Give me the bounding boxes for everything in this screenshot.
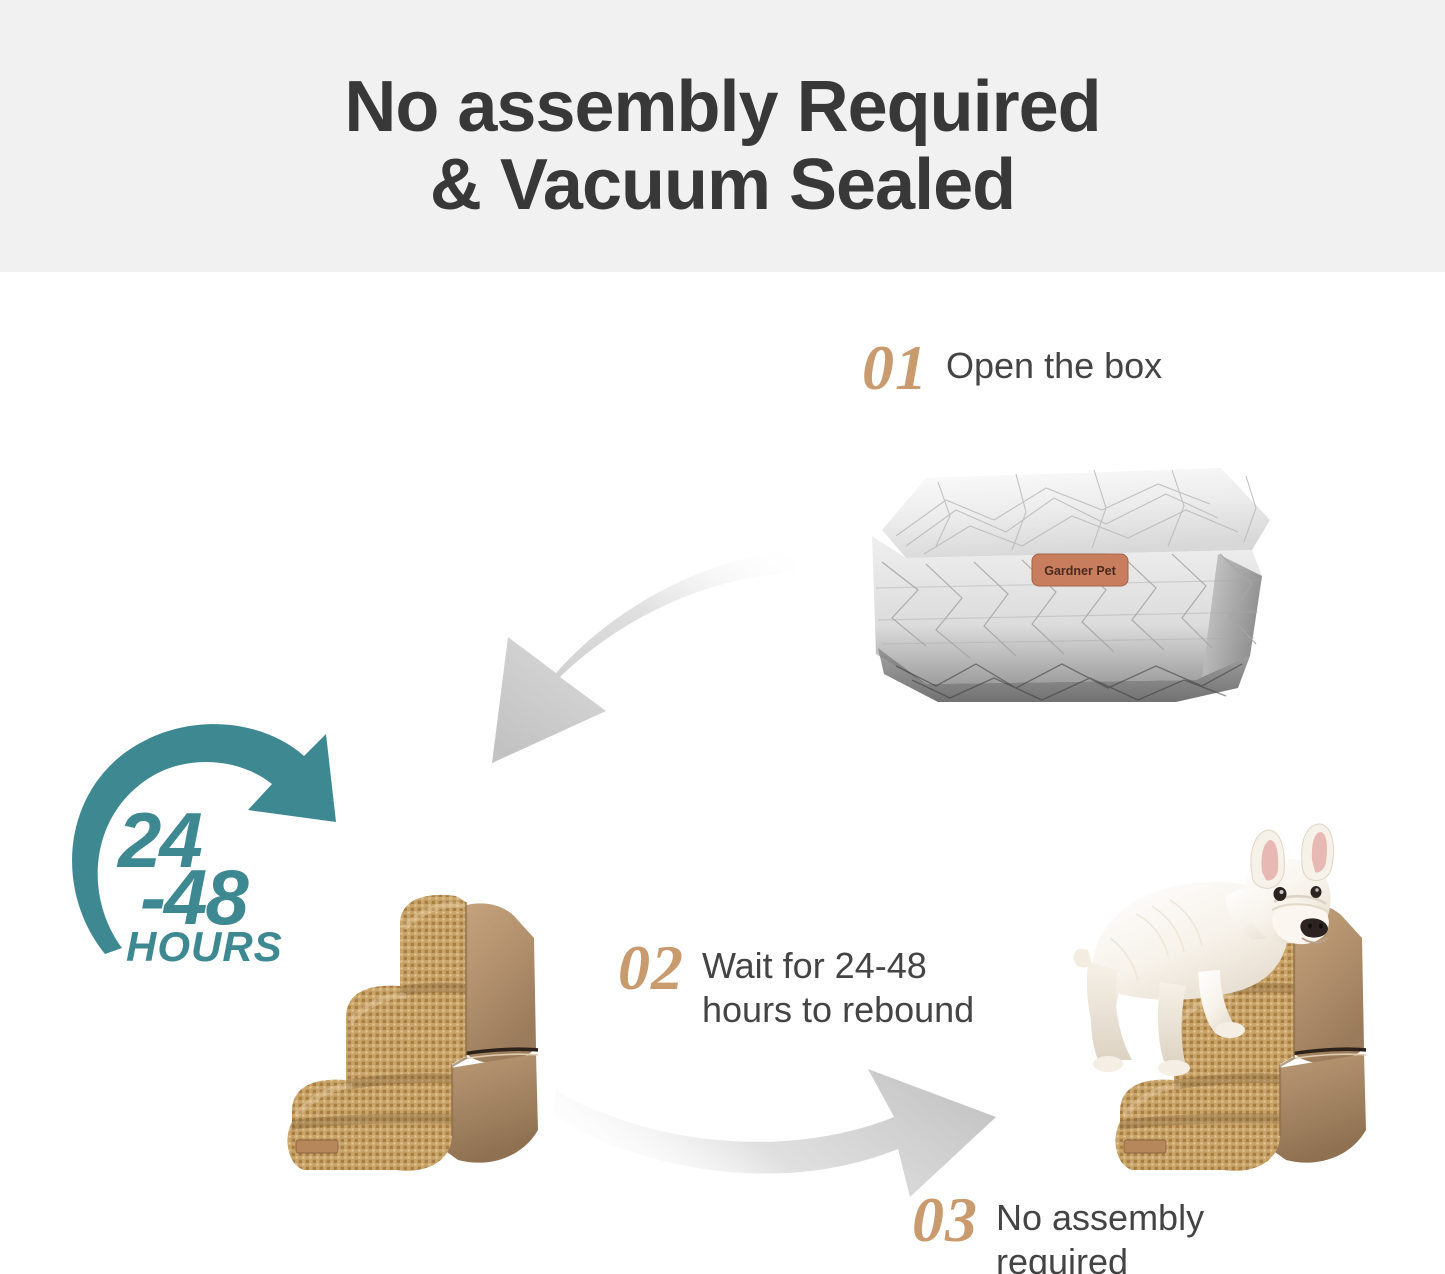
product-brand-tag xyxy=(1124,1140,1166,1153)
infographic-canvas: No assembly Required & Vacuum Sealed 01 … xyxy=(0,0,1445,1274)
step-01-label: Open the box xyxy=(946,338,1162,388)
vacuum-sealed-package: Gardner Pet xyxy=(866,458,1278,708)
pet-stairs-left xyxy=(200,872,590,1192)
page-title-line-1: No assembly Required xyxy=(344,67,1100,147)
step-02-label: Wait for 24-48 hours to rebound xyxy=(702,938,974,1032)
french-bulldog-photo xyxy=(1040,822,1340,1112)
package-brand-tag: Gardner Pet xyxy=(1032,554,1128,586)
header-band: No assembly Required & Vacuum Sealed xyxy=(0,0,1445,272)
page-title: No assembly Required & Vacuum Sealed xyxy=(0,68,1445,224)
product-brand-tag xyxy=(296,1140,338,1153)
page-title-line-2: & Vacuum Sealed xyxy=(0,146,1445,224)
step-02-number: 02 xyxy=(618,938,684,998)
flow-arrow-2-icon xyxy=(550,1045,1050,1240)
step-01: 01 Open the box xyxy=(862,338,1162,398)
step-02: 02 Wait for 24-48 hours to rebound xyxy=(618,938,974,1032)
step-01-number: 01 xyxy=(862,338,928,398)
svg-text:Gardner Pet: Gardner Pet xyxy=(1044,564,1116,578)
flow-arrow-1-icon xyxy=(380,505,800,780)
